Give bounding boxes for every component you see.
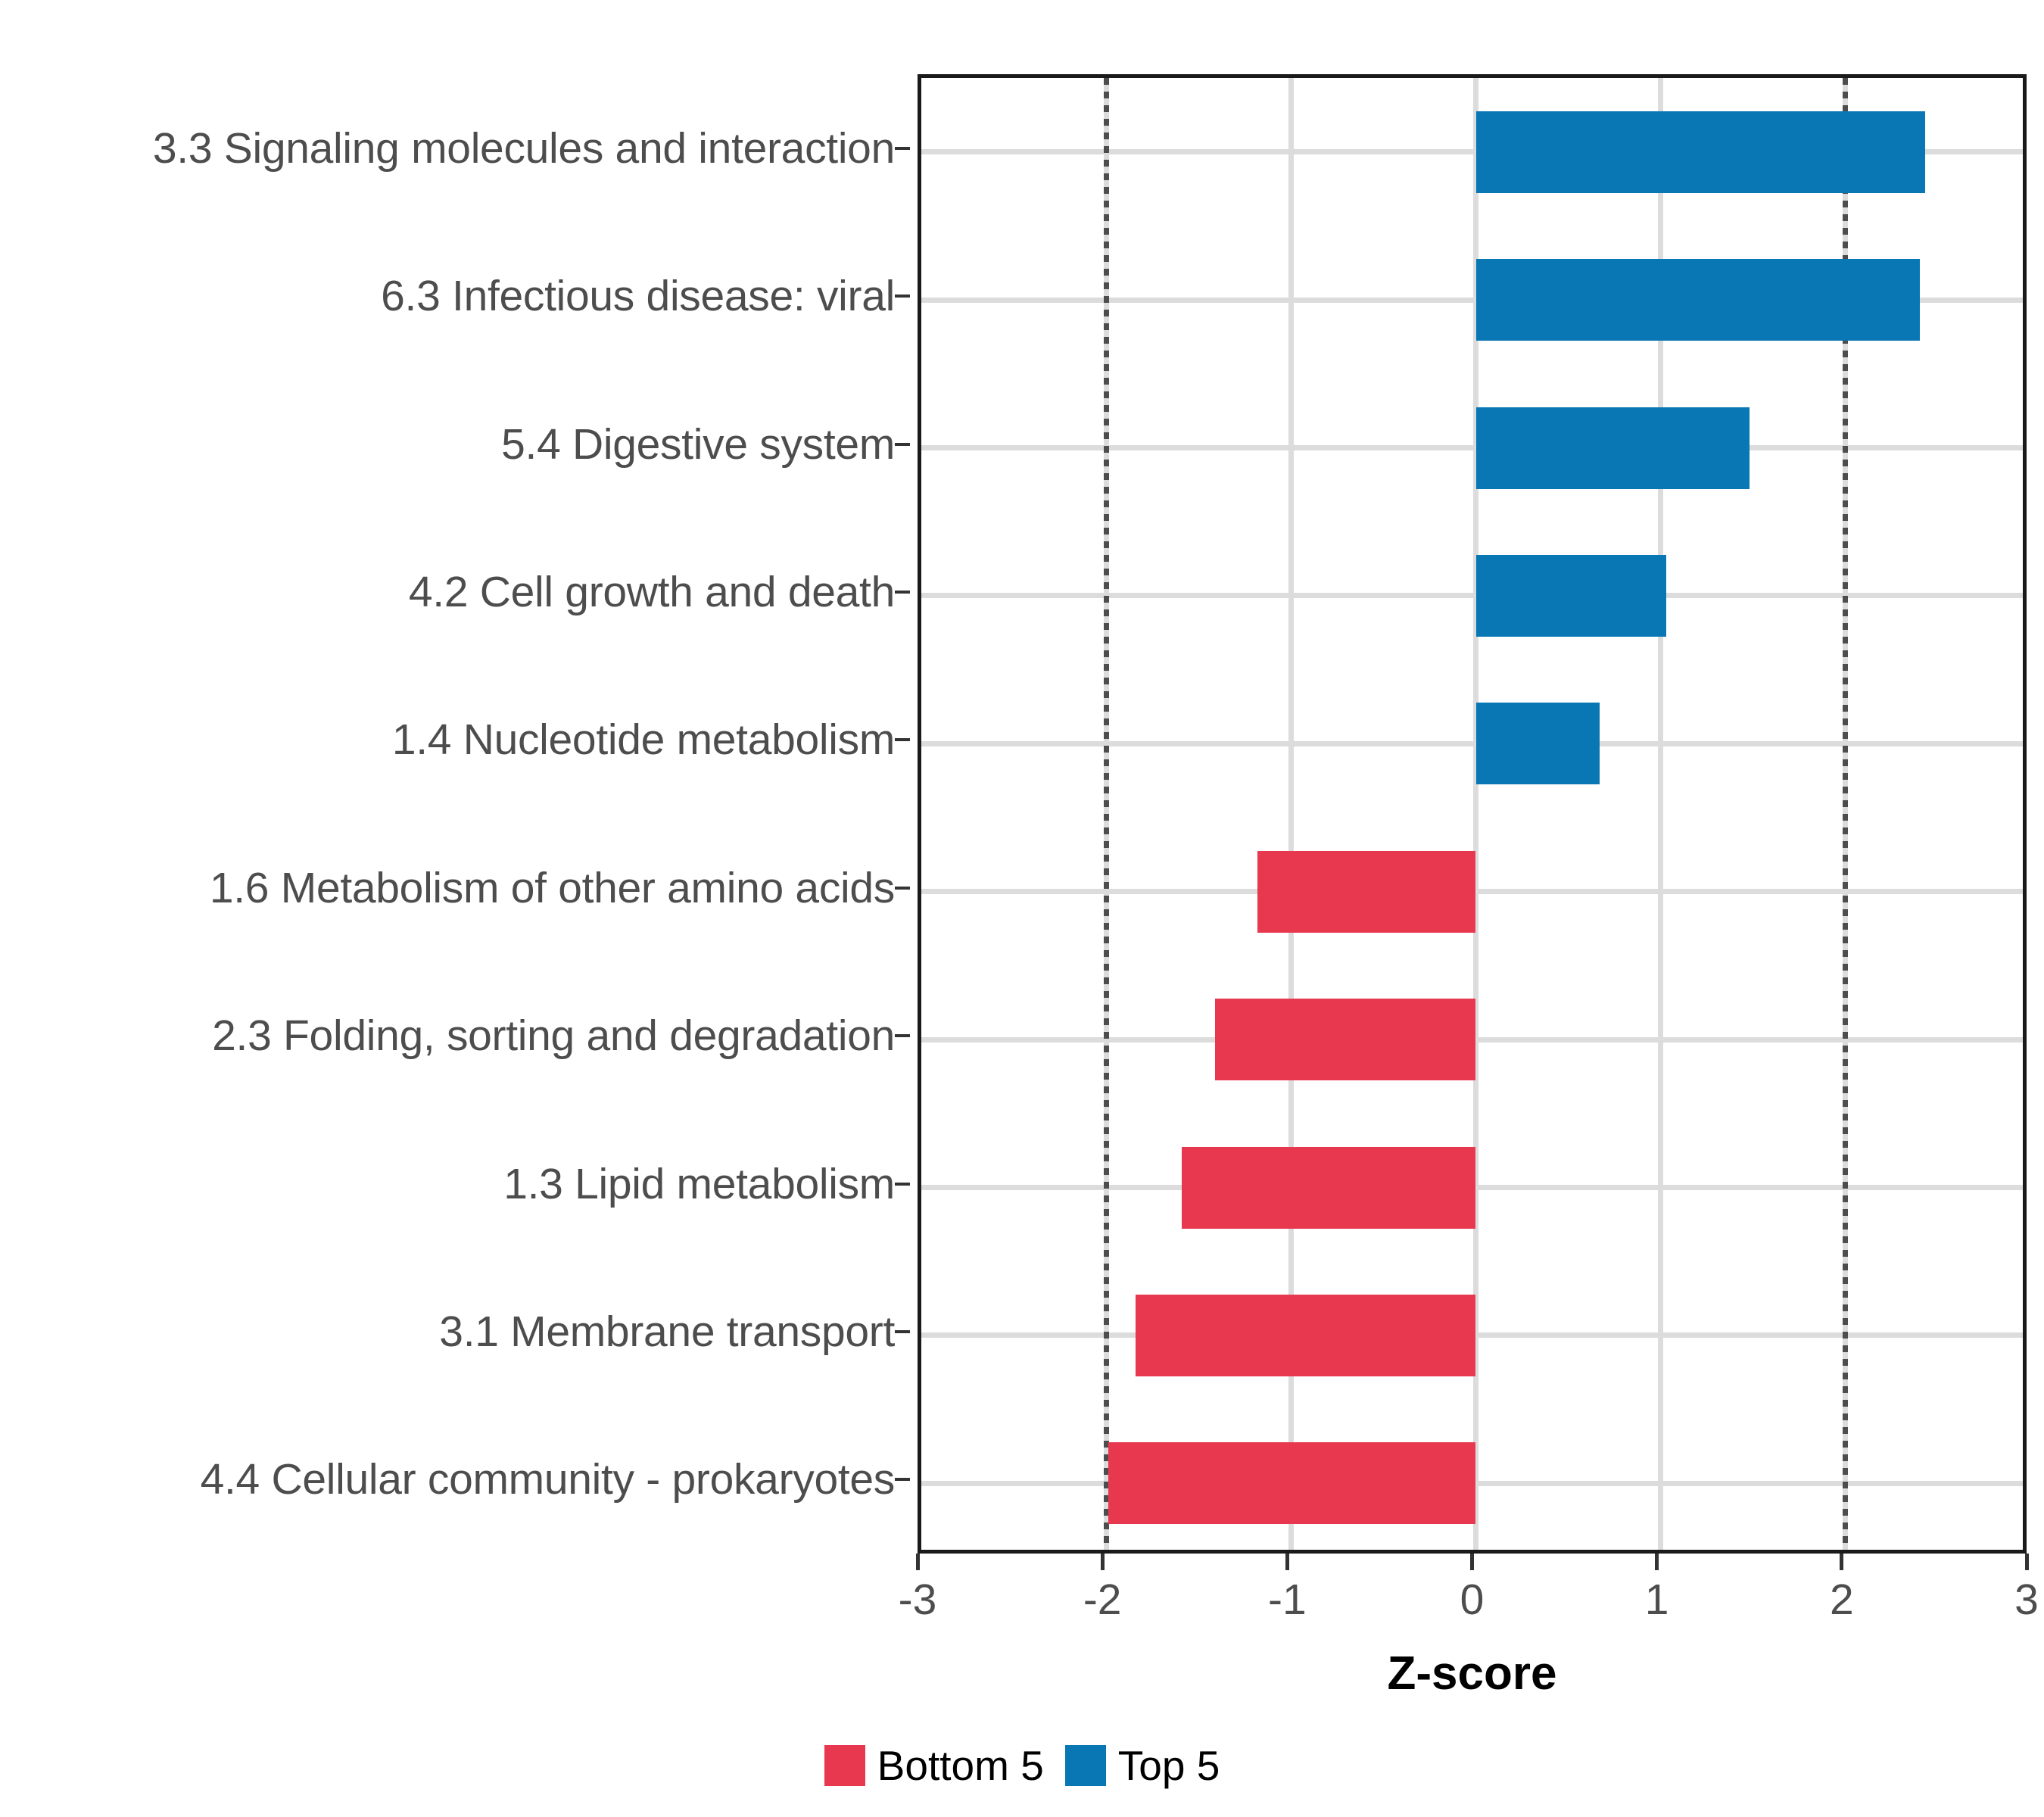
x-axis-tick-label: -1 xyxy=(1268,1575,1307,1625)
x-axis-title: Z-score xyxy=(918,1647,2027,1700)
y-axis-category-label: 3.1 Membrane transport xyxy=(0,1258,895,1405)
y-axis-tick-mark xyxy=(895,887,910,890)
x-axis-tick-mark xyxy=(1840,1554,1843,1570)
horizontal-gridline xyxy=(921,741,2023,746)
bar-chart-figure: 3.3 Signaling molecules and interaction6… xyxy=(0,0,2044,1817)
x-axis-tick-mark xyxy=(2025,1554,2029,1570)
y-axis-category-label: 4.4 Cellular community - prokaryotes xyxy=(0,1406,895,1554)
y-axis-category-label: 3.3 Signaling molecules and interaction xyxy=(0,74,895,222)
bar xyxy=(1476,259,1920,341)
horizontal-gridline xyxy=(921,445,2023,450)
x-axis-tick-label: -3 xyxy=(899,1575,937,1625)
y-axis-category-label: 1.6 Metabolism of other amino acids xyxy=(0,814,895,961)
y-axis-tick-mark xyxy=(895,1034,910,1037)
x-axis-tick-mark xyxy=(916,1554,920,1570)
y-axis-label-text: 4.4 Cellular community - prokaryotes xyxy=(201,1454,895,1504)
y-axis-tick-mark xyxy=(895,1478,910,1481)
x-axis-ticks: -3-2-10123 xyxy=(918,1554,2027,1570)
x-axis-tick-label: 1 xyxy=(1645,1575,1669,1625)
bar xyxy=(1257,851,1475,933)
bar xyxy=(1136,1295,1475,1376)
bar xyxy=(1182,1147,1475,1229)
y-axis-label-text: 3.1 Membrane transport xyxy=(439,1307,895,1357)
x-axis-tick-label: 3 xyxy=(2014,1575,2039,1625)
y-axis-tick-mark xyxy=(895,295,910,298)
legend-label: Top 5 xyxy=(1118,1741,1220,1790)
horizontal-gridline xyxy=(921,593,2023,598)
y-axis-label-text: 1.6 Metabolism of other amino acids xyxy=(210,863,895,913)
bar xyxy=(1108,1442,1476,1524)
bar xyxy=(1476,111,1925,193)
bar xyxy=(1476,703,1600,784)
y-axis-tick-mark xyxy=(895,147,910,150)
y-axis-labels: 3.3 Signaling molecules and interaction6… xyxy=(0,74,895,1554)
plot-panel xyxy=(918,74,2027,1554)
y-axis-label-text: 5.4 Digestive system xyxy=(501,419,895,469)
y-axis-tick-mark xyxy=(895,443,910,446)
x-axis-tick-label: -2 xyxy=(1083,1575,1122,1625)
y-axis-category-label: 5.4 Digestive system xyxy=(0,370,895,518)
legend-label: Bottom 5 xyxy=(877,1741,1044,1790)
x-axis-tick-mark xyxy=(1285,1554,1289,1570)
y-axis-category-label: 1.4 Nucleotide metabolism xyxy=(0,666,895,814)
y-axis-category-label: 1.3 Lipid metabolism xyxy=(0,1110,895,1258)
y-axis-tick-mark xyxy=(895,591,910,594)
y-axis-category-label: 2.3 Folding, sorting and degradation xyxy=(0,961,895,1109)
legend-color-swatch xyxy=(824,1745,865,1786)
y-axis-label-text: 1.4 Nucleotide metabolism xyxy=(392,715,895,765)
x-axis-tick-mark xyxy=(1101,1554,1105,1570)
x-axis-tick-label: 2 xyxy=(1830,1575,1854,1625)
chart-legend: Bottom 5Top 5 xyxy=(0,1741,2044,1790)
reference-line xyxy=(1104,78,1109,1550)
y-axis-label-text: 1.3 Lipid metabolism xyxy=(503,1159,895,1209)
y-axis-category-label: 6.3 Infectious disease: viral xyxy=(0,222,895,369)
y-axis-label-text: 3.3 Signaling molecules and interaction xyxy=(153,123,895,173)
y-axis-tick-mark xyxy=(895,1183,910,1186)
x-axis-tick-mark xyxy=(1655,1554,1659,1570)
y-axis-label-text: 4.2 Cell growth and death xyxy=(409,567,895,617)
bar xyxy=(1215,999,1475,1080)
bar xyxy=(1476,407,1750,489)
y-axis-label-text: 2.3 Folding, sorting and degradation xyxy=(212,1011,895,1061)
bar xyxy=(1476,555,1666,637)
y-axis-category-label: 4.2 Cell growth and death xyxy=(0,518,895,665)
y-axis-tick-mark xyxy=(895,1330,910,1333)
plot-area xyxy=(921,78,2023,1550)
x-axis-tick-mark xyxy=(1470,1554,1474,1570)
y-axis-label-text: 6.3 Infectious disease: viral xyxy=(381,271,895,321)
legend-entry: Bottom 5 xyxy=(824,1741,1044,1790)
x-axis-tick-label: 0 xyxy=(1460,1575,1485,1625)
legend-entry: Top 5 xyxy=(1065,1741,1220,1790)
legend-color-swatch xyxy=(1065,1745,1106,1786)
y-axis-tick-mark xyxy=(895,738,910,741)
